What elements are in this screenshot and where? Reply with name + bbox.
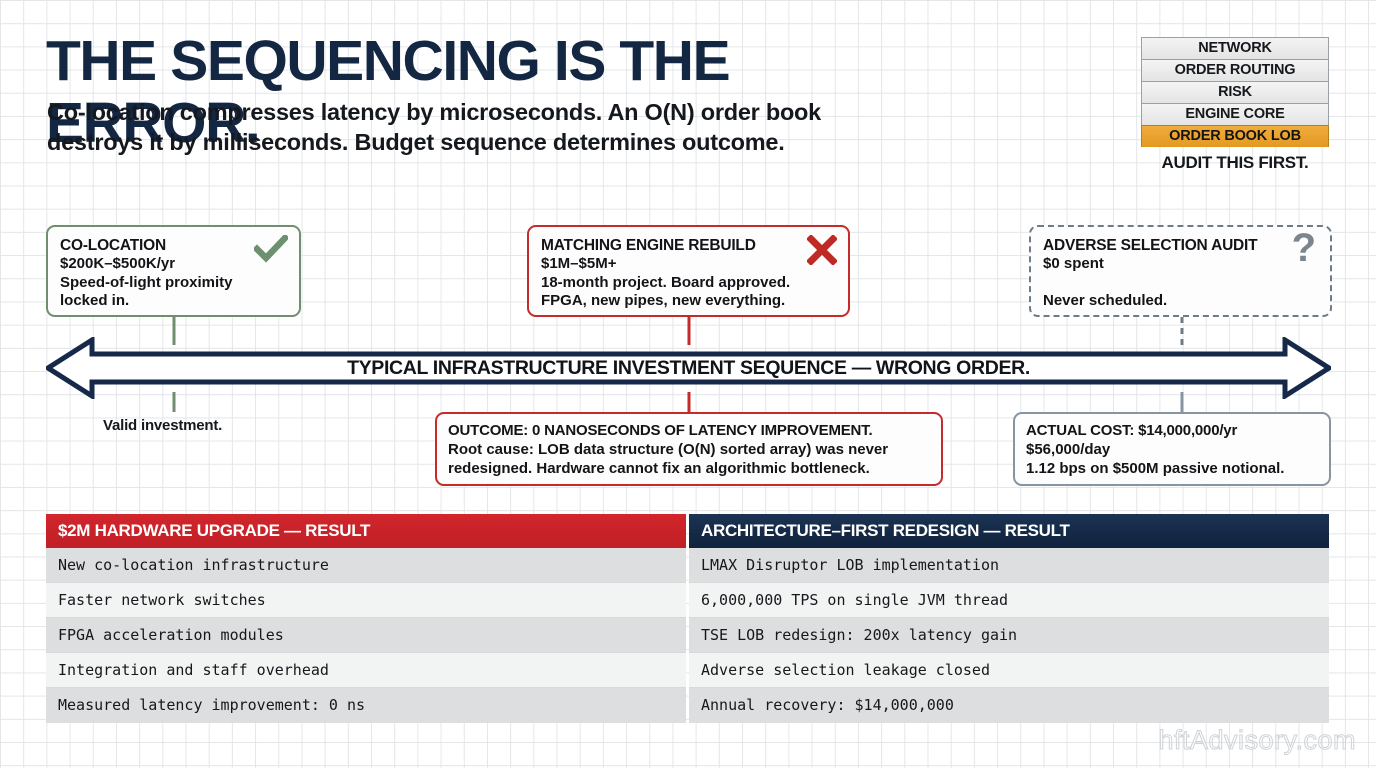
table-row: Adverse selection leakage closed	[689, 653, 1329, 688]
table-hardware-upgrade: $2M HARDWARE UPGRADE — RESULT New co-loc…	[46, 514, 686, 723]
table-row: Faster network switches	[46, 583, 686, 618]
table-row: 6,000,000 TPS on single JVM thread	[689, 583, 1329, 618]
callout-engine-cost: $1M–$5M+	[541, 255, 836, 274]
callout-audit-cost: $0 spent	[1043, 255, 1318, 274]
arrow-shape	[48, 340, 1329, 396]
callout-engine-title: MATCHING ENGINE REBUILD	[541, 236, 836, 255]
outcome-title: OUTCOME: 0 NANOSECONDS OF LATENCY IMPROV…	[448, 421, 930, 440]
check-icon	[254, 235, 288, 263]
table-row: Measured latency improvement: 0 ns	[46, 688, 686, 723]
callout-audit-line1	[1043, 274, 1318, 293]
callout-colocation-line2: locked in.	[60, 292, 287, 311]
callout-engine-line2: FPGA, new pipes, new everything.	[541, 292, 836, 311]
outcome-line1: Root cause: LOB data structure (O(N) sor…	[448, 440, 930, 459]
question-icon: ?	[1292, 231, 1316, 265]
callout-engine-line1: 18-month project. Board approved.	[541, 274, 836, 293]
sequence-arrow	[46, 337, 1331, 399]
table-row: TSE LOB redesign: 200x latency gain	[689, 618, 1329, 653]
valid-investment-note: Valid investment.	[103, 417, 222, 434]
callout-colocation-title: CO-LOCATION	[60, 236, 287, 255]
actual-cost-box[interactable]: ACTUAL COST: $14,000,000/yr $56,000/day …	[1013, 412, 1331, 486]
table-row: Integration and staff overhead	[46, 653, 686, 688]
callout-audit-title: ADVERSE SELECTION AUDIT	[1043, 236, 1318, 255]
callout-colocation[interactable]: CO-LOCATION $200K–$500K/yr Speed-of-ligh…	[46, 225, 301, 317]
outcome-box[interactable]: OUTCOME: 0 NANOSECONDS OF LATENCY IMPROV…	[435, 412, 943, 486]
cross-icon	[807, 235, 837, 265]
cost-line2: 1.12 bps on $500M passive notional.	[1026, 459, 1318, 478]
table-row: Annual recovery: $14,000,000	[689, 688, 1329, 723]
callout-colocation-line1: Speed-of-light proximity	[60, 274, 287, 293]
callout-audit-line2: Never scheduled.	[1043, 292, 1318, 311]
table-row: FPGA acceleration modules	[46, 618, 686, 653]
table-architecture-first: ARCHITECTURE–FIRST REDESIGN — RESULT LMA…	[689, 514, 1329, 723]
table-right-header: ARCHITECTURE–FIRST REDESIGN — RESULT	[689, 514, 1329, 548]
cost-title: ACTUAL COST: $14,000,000/yr	[1026, 421, 1318, 440]
table-row: LMAX Disruptor LOB implementation	[689, 548, 1329, 583]
infographic-canvas: THE SEQUENCING IS THE ERROR. Co-location…	[0, 0, 1376, 768]
callout-adverse-selection-audit[interactable]: ADVERSE SELECTION AUDIT $0 spent Never s…	[1029, 225, 1332, 317]
callout-colocation-cost: $200K–$500K/yr	[60, 255, 287, 274]
callout-matching-engine[interactable]: MATCHING ENGINE REBUILD $1M–$5M+ 18-mont…	[527, 225, 850, 317]
outcome-line2: redesigned. Hardware cannot fix an algor…	[448, 459, 930, 478]
table-row: New co-location infrastructure	[46, 548, 686, 583]
cost-line1: $56,000/day	[1026, 440, 1318, 459]
watermark: hftAdvisory.com	[1158, 725, 1356, 756]
table-left-header: $2M HARDWARE UPGRADE — RESULT	[46, 514, 686, 548]
